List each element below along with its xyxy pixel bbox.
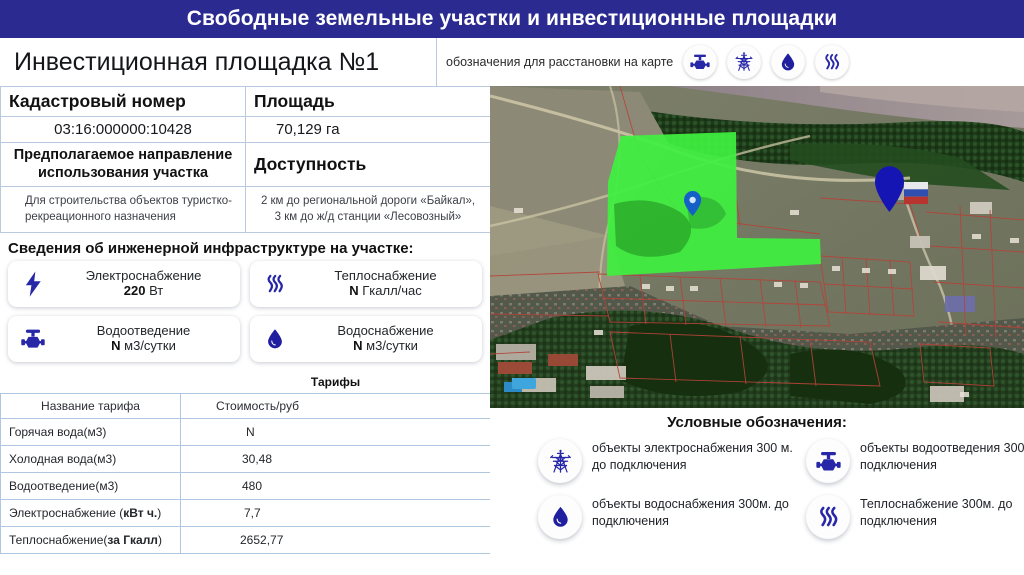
table-row: 03:16:000000:10428 70,129 га [1,117,491,143]
tariff-row-0-name: Горячая вода(м3) [2,420,179,444]
tariff-row-3-value-cell: 7,7 [181,500,491,527]
heat-waves-icon [821,51,843,73]
card-electricity[interactable]: Электроснабжение 220 Вт [8,261,240,307]
power-tower-icon [733,51,755,73]
map-marks-label: обозначения для расстановки на карте [446,55,673,69]
heat-waves-icon [806,495,850,539]
power-tower-icon [538,439,582,483]
heat-waves-icon [260,268,290,300]
legend-panel: Условные обозначения: [490,408,1024,575]
tariffs-col-name: Название тарифа [2,395,179,417]
table-row: Электроснабжение (кВт ч.) 7,7 [1,500,491,527]
table-row: Холодная вода(м3) 30,48 [1,446,491,473]
valve-icon [18,323,48,355]
tariff-row-4-name: Теплоснабжение(за Гкалл) [2,528,179,552]
accessibility-value: 2 км до региональной дороги «Байкал», 3 … [254,191,482,228]
tariffs-col-price: Стоимость/руб [182,395,489,417]
tariff-row-3-name-tail: ) [157,506,161,520]
card-water-supply-value: N [353,338,362,353]
card-drainage-label: Водоотведение [57,324,230,339]
water-drop-icon [778,51,798,73]
legend-item-heat-text: Теплоснабжение 300м. до подключения [860,495,1024,529]
tariffs-title: Тарифы [182,372,490,392]
tariff-row-3-name: Электроснабжение (кВт ч.) [2,501,179,525]
card-electricity-text: Электроснабжение 220 Вт [57,269,230,299]
map-imagery [490,86,1024,408]
tariff-row-4-name-lead: Теплоснабжение( [9,533,107,547]
area-header-cell: Площадь [246,87,491,117]
cadastral-header-cell: Кадастровый номер [1,87,246,117]
legend-item-water-supply[interactable]: объекты водоснабжения 300м. до подключен… [538,495,806,539]
tariff-row-3-name-lead: Электроснабжение ( [9,506,123,520]
card-water-supply-label: Водоснабжение [299,324,472,339]
tariff-row-2-name: Водоотведение(м3) [2,474,179,498]
tariffs-col-price-cell: Стоимость/руб [181,394,491,419]
valve-icon [689,51,711,73]
engineering-cards: Электроснабжение 220 Вт Теплоснабжен [0,261,490,362]
tariff-row-4-value: 2652,77 [182,528,489,552]
area-header: Площадь [254,91,482,112]
card-electricity-value: 220 [124,283,146,298]
tariffs-header-row: Название тарифа Стоимость/руб [1,394,491,419]
lightning-icon [18,268,48,300]
table-row: Предполагаемое направление использования… [1,143,491,187]
infographic-page: Свободные земельные участки и инвестицио… [0,0,1024,575]
chip-power-tower[interactable] [727,45,761,79]
tariff-row-1-name: Холодная вода(м3) [2,447,179,471]
map-marks-strip: обозначения для расстановки на карте [437,38,1024,86]
map-marks-icon-row [683,45,849,79]
left-info-column: Кадастровый номер Площадь 03:16:000000:1… [0,86,490,575]
tariff-row-4-value-cell: 2652,77 [181,527,491,554]
card-water-supply-unit: м3/сутки [366,338,418,353]
engineering-heading: Сведения об инженерной инфраструктуре на… [0,233,490,261]
card-drainage-value: N [111,338,120,353]
usage-header-cell: Предполагаемое направление использования… [1,143,246,187]
legend-item-drainage[interactable]: объекты водоотведения 300 м. до подключе… [806,439,1024,483]
card-electricity-label: Электроснабжение [57,269,230,284]
tariff-row-1-value-cell: 30,48 [181,446,491,473]
tariff-row-4-name-tail: ) [158,533,162,547]
table-row: Для строительства объектов туристко-рекр… [1,187,491,233]
parcel-info-table: Кадастровый номер Площадь 03:16:000000:1… [0,86,491,233]
title-bar: Инвестиционная площадка №1 обозначения д… [0,38,1024,87]
tariff-row-0-value-cell: N [181,419,491,446]
chip-valve[interactable] [683,45,717,79]
card-heat[interactable]: Теплоснабжение N Гкалл/час [250,261,482,307]
table-row: Горячая вода(м3) N [1,419,491,446]
area-value: 70,129 га [254,121,482,138]
legend-item-heat[interactable]: Теплоснабжение 300м. до подключения [806,495,1024,539]
tariff-row-2-value-cell: 480 [181,473,491,500]
legend-grid: объекты электроснабжения 300 м. до подкл… [490,439,1024,539]
tariff-row-1-value: 30,48 [182,447,489,471]
tariff-row-3-name-bold: кВт ч. [123,506,157,520]
cadastral-header: Кадастровый номер [9,91,237,112]
tariffs-col-name-cell: Название тарифа [1,394,181,419]
tariff-row-2-name-cell: Водоотведение(м3) [1,473,181,500]
usage-header: Предполагаемое направление использования… [9,147,237,182]
card-water-supply-text: Водоснабжение N м3/сутки [299,324,472,354]
table-row: Водоотведение(м3) 480 [1,473,491,500]
chip-water-drop[interactable] [771,45,805,79]
satellite-map[interactable] [490,86,1024,408]
cadastral-value-cell: 03:16:000000:10428 [1,117,246,143]
area-value-cell: 70,129 га [246,117,491,143]
page-banner: Свободные земельные участки и инвестицио… [0,0,1024,38]
tariff-row-1-name-cell: Холодная вода(м3) [1,446,181,473]
tariffs-table: Тарифы Название тарифа Стоимость/руб Гор… [0,371,491,554]
card-water-supply[interactable]: Водоснабжение N м3/сутки [250,316,482,362]
water-drop-icon [538,495,582,539]
accessibility-header: Доступность [254,154,482,175]
tariff-row-3-value: 7,7 [182,501,489,525]
tariff-row-2-value: 480 [182,474,489,498]
tariffs-title-row: Тарифы [1,371,491,394]
tariff-row-4-name-bold: за Гкалл [107,533,158,547]
tariff-row-3-name-cell: Электроснабжение (кВт ч.) [1,500,181,527]
card-heat-label: Теплоснабжение [299,269,472,284]
card-heat-value: N [349,283,358,298]
investment-site-title: Инвестиционная площадка №1 [0,38,437,86]
card-drainage[interactable]: Водоотведение N м3/сутки [8,316,240,362]
usage-value: Для строительства объектов туристко-рекр… [9,191,237,228]
page-title: Свободные земельные участки и инвестицио… [187,7,838,31]
tariffs-title-cell: Тарифы [181,371,491,394]
tariffs-title-spacer [1,371,181,394]
card-drainage-unit: м3/сутки [124,338,176,353]
card-electricity-unit: Вт [149,283,163,298]
legend-item-electricity[interactable]: объекты электроснабжения 300 м. до подкл… [538,439,806,483]
legend-title: Условные обозначения: [490,414,1024,431]
legend-item-water-supply-text: объекты водоснабжения 300м. до подключен… [592,495,806,529]
table-row: Теплоснабжение(за Гкалл) 2652,77 [1,527,491,554]
valve-icon [806,439,850,483]
card-heat-text: Теплоснабжение N Гкалл/час [299,269,472,299]
legend-item-electricity-text: объекты электроснабжения 300 м. до подкл… [592,439,806,473]
tariff-row-0-name-cell: Горячая вода(м3) [1,419,181,446]
usage-value-cell: Для строительства объектов туристко-рекр… [1,187,246,233]
water-drop-icon [260,323,290,355]
card-drainage-text: Водоотведение N м3/сутки [57,324,230,354]
tariff-row-0-value: N [182,420,489,444]
accessibility-header-cell: Доступность [246,143,491,187]
card-heat-unit: Гкалл/час [362,283,422,298]
accessibility-value-cell: 2 км до региональной дороги «Байкал», 3 … [246,187,491,233]
legend-item-drainage-text: объекты водоотведения 300 м. до подключе… [860,439,1024,473]
tariff-row-4-name-cell: Теплоснабжение(за Гкалл) [1,527,181,554]
chip-heat-waves[interactable] [815,45,849,79]
cadastral-value: 03:16:000000:10428 [9,121,237,138]
table-row: Кадастровый номер Площадь [1,87,491,117]
